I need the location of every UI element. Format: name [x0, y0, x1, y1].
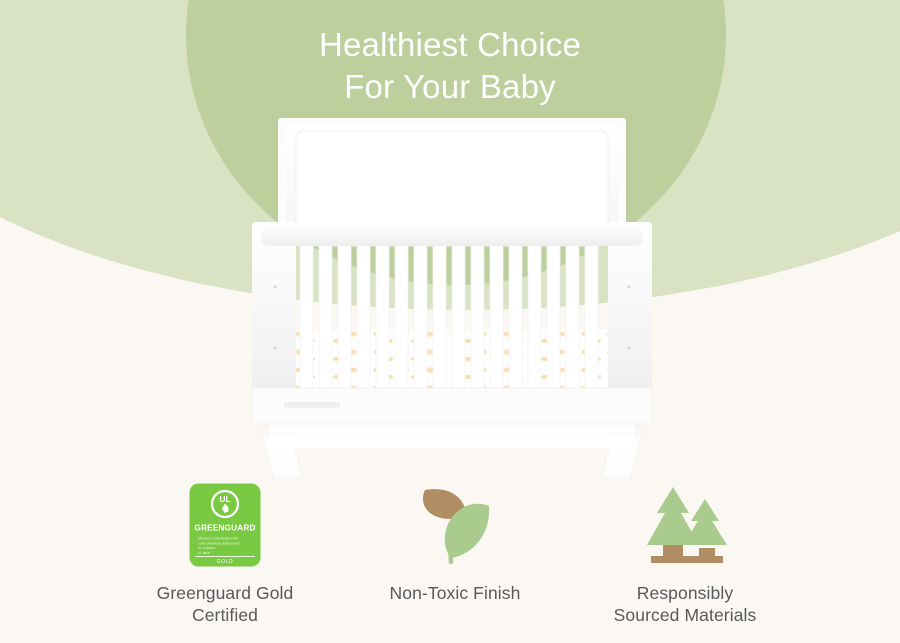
svg-text:LOW CHEMICAL EMISSIONS: LOW CHEMICAL EMISSIONS [198, 541, 240, 545]
feature-label-sourced: Responsibly Sourced Materials [614, 582, 757, 626]
svg-text:PRODUCT CERTIFIED FOR: PRODUCT CERTIFIED FOR [198, 537, 239, 541]
feature-label-greenguard: Greenguard Gold Certified [157, 582, 294, 626]
feature-item-greenguard: UL GREENGUARD PRODUCT CERTIFIED FOR LOW … [110, 482, 340, 626]
feature-item-sourced: Responsibly Sourced Materials [570, 482, 800, 626]
svg-text:UL 2818: UL 2818 [198, 551, 210, 555]
svg-text:GOLD: GOLD [217, 559, 234, 565]
svg-text:UL.COM/GG: UL.COM/GG [198, 546, 216, 550]
two-leaves-icon [411, 482, 499, 568]
svg-text:UL: UL [219, 494, 230, 504]
feature-list: UL GREENGUARD PRODUCT CERTIFIED FOR LOW … [110, 482, 800, 627]
headline-line-2: For Your Baby [0, 66, 900, 108]
feature-label-non-toxic: Non-Toxic Finish [390, 582, 521, 604]
page-title: Healthiest Choice For Your Baby [0, 24, 900, 108]
headline-line-1: Healthiest Choice [0, 24, 900, 66]
feature-item-non-toxic: Non-Toxic Finish [340, 482, 570, 604]
product-image-crib [240, 112, 664, 482]
greenguard-gold-badge-icon: UL GREENGUARD PRODUCT CERTIFIED FOR LOW … [189, 482, 261, 568]
promo-banner: Healthiest Choice For Your Baby [0, 0, 900, 643]
svg-text:GREENGUARD: GREENGUARD [194, 524, 255, 533]
trees-with-logs-icon [635, 482, 735, 568]
